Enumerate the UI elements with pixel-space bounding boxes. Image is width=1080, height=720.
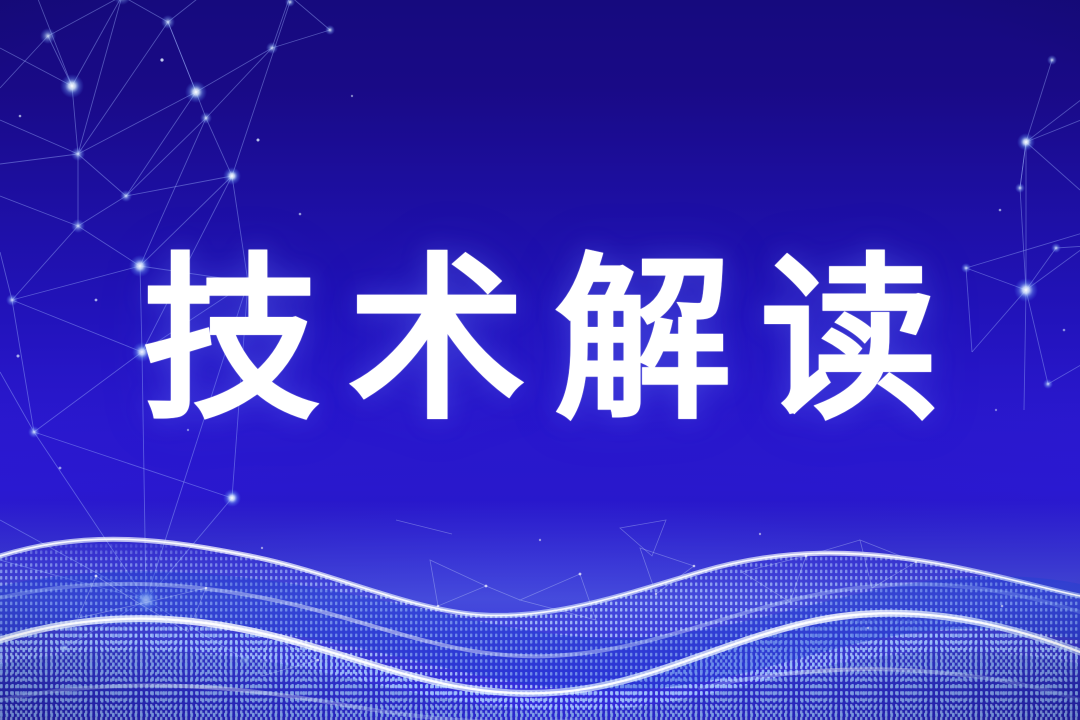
tech-banner: 技术解读 (0, 0, 1080, 720)
background-vignette (0, 0, 1080, 720)
